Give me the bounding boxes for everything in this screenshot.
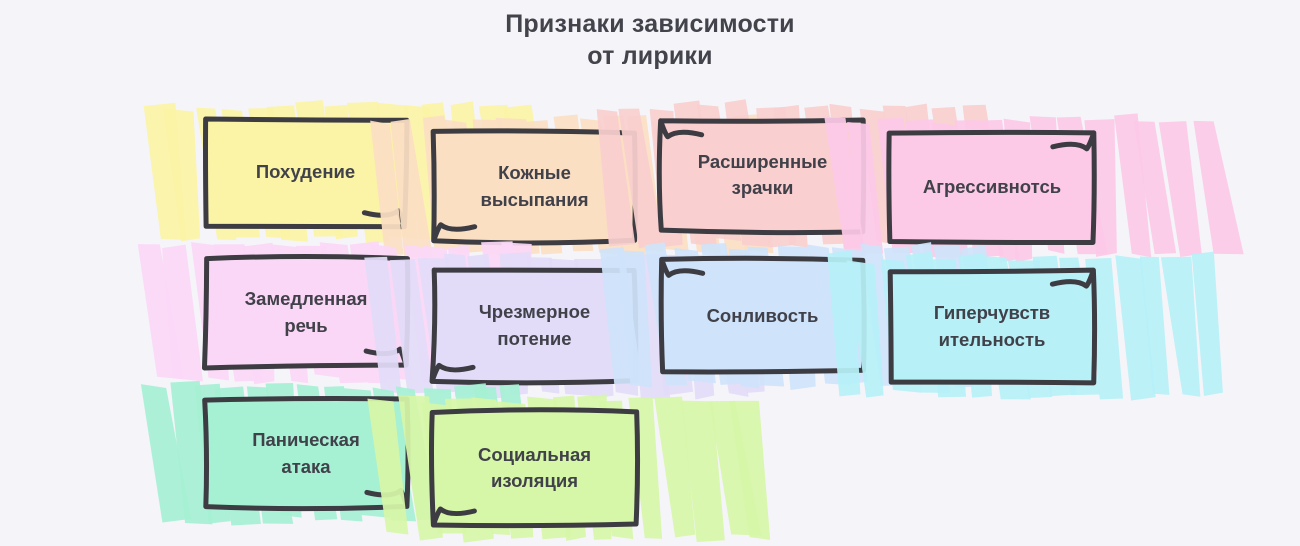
card-aggressiveness-body — [889, 132, 1094, 242]
card-hypersensitivity-body — [890, 270, 1094, 383]
infographic-board: Признаки зависимости от лирики Похудение… — [0, 0, 1300, 546]
card-social-isolation[interactable]: Социальная изоляция — [431, 410, 638, 526]
card-social-isolation-sketch — [413, 392, 656, 544]
card-social-isolation-body — [431, 410, 637, 526]
card-aggressiveness[interactable]: Агрессивнотсь — [888, 130, 1096, 245]
card-hypersensitivity-sketch — [870, 250, 1114, 403]
card-aggressiveness-sketch — [870, 112, 1114, 263]
page-title: Признаки зависимости от лирики — [0, 8, 1300, 72]
card-hypersensitivity[interactable]: Гиперчувств ительность — [888, 268, 1096, 385]
